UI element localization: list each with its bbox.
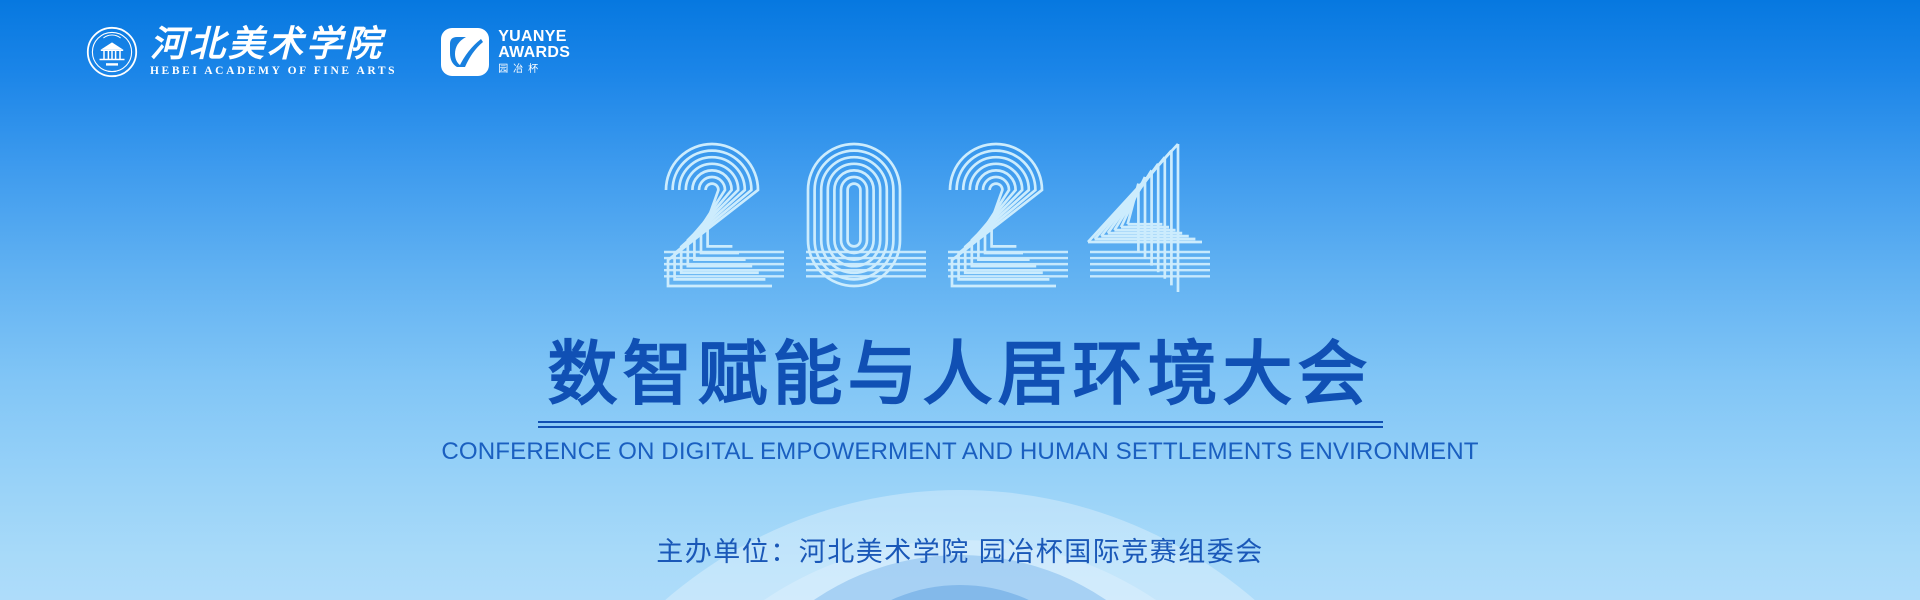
year-graphic <box>0 136 1920 296</box>
divider-rule-thick <box>538 421 1383 424</box>
page-title: 数智赋能与人居环境大会 <box>0 338 1920 411</box>
dome-arc-core <box>795 585 1125 600</box>
yuanye-awards-logo[interactable]: YUANYE AWARDS 园冶杯 <box>441 28 570 76</box>
page-subtitle: CONFERENCE ON DIGITAL EMPOWERMENT AND HU… <box>14 438 1905 466</box>
title-divider <box>538 421 1383 428</box>
logo-row: 河北美术学院 HEBEI ACADEMY OF FINE ARTS YUANYE… <box>86 26 570 78</box>
organizer-line: 主办单位：河北美术学院 园冶杯国际竞赛组委会 <box>0 530 1920 569</box>
headline-block: 数智赋能与人居环境大会 CONFERENCE ON DIGITAL EMPOWE… <box>0 338 1920 466</box>
conference-banner: 河北美术学院 HEBEI ACADEMY OF FINE ARTS YUANYE… <box>0 0 1920 600</box>
divider-rule-thin <box>538 426 1383 428</box>
yuanye-awards-wordmark: YUANYE AWARDS 园冶杯 <box>498 29 570 75</box>
hebei-academy-logo[interactable]: 河北美术学院 HEBEI ACADEMY OF FINE ARTS <box>86 26 397 78</box>
hebei-academy-name-cn: 河北美术学院 <box>150 26 384 62</box>
yuanye-awards-line1: YUANYE <box>498 29 570 45</box>
yuanye-awards-line2: AWARDS <box>498 45 570 61</box>
yuanye-awards-name-cn: 园冶杯 <box>498 65 570 75</box>
yuanye-awards-mark-icon <box>441 28 489 76</box>
hebei-academy-name-en: HEBEI ACADEMY OF FINE ARTS <box>150 66 397 78</box>
hebei-academy-seal-icon <box>86 26 138 78</box>
hebei-academy-wordmark: 河北美术学院 HEBEI ACADEMY OF FINE ARTS <box>150 26 397 78</box>
